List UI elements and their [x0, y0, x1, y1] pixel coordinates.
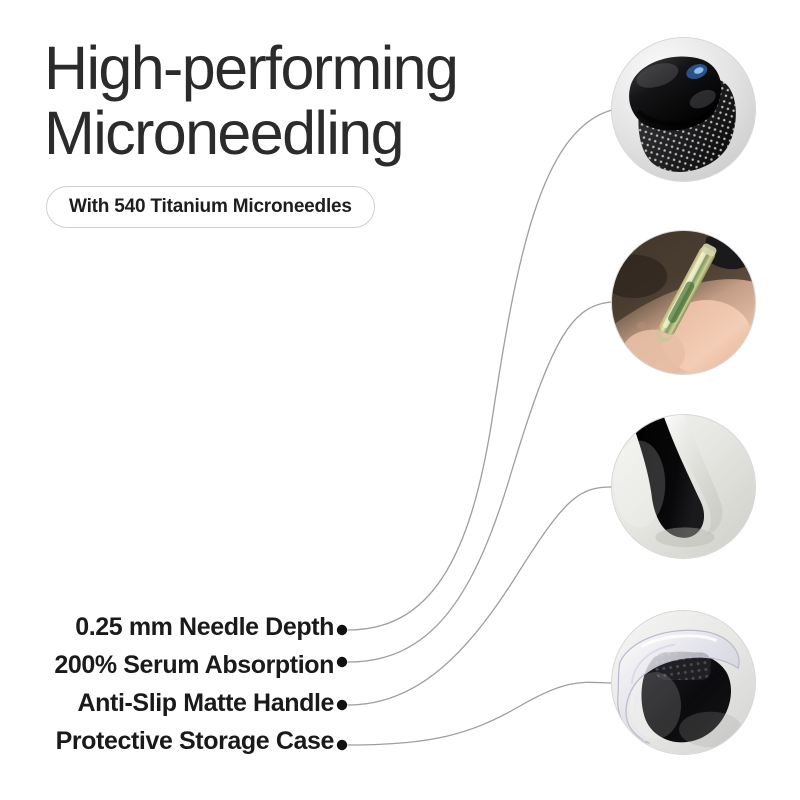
bullet-dot-1 — [337, 625, 347, 635]
bullet-dot-2 — [337, 657, 347, 667]
bullet-dot-3 — [337, 700, 347, 710]
list-item: Protective Storage Case — [56, 722, 338, 760]
connector-line-4 — [348, 682, 612, 745]
badge-label: With 540 Titanium Microneedles — [69, 196, 352, 218]
feature-label-3: Anti-Slip Matte Handle — [78, 689, 334, 718]
feature-label-2: 200% Serum Absorption — [54, 651, 334, 680]
page-title: High-performing Microneedling — [44, 36, 584, 165]
feature-label-4: Protective Storage Case — [56, 727, 334, 756]
connector-line-2 — [348, 302, 612, 662]
product-photo-storage-case — [611, 610, 756, 755]
product-photo-matte-handle — [611, 414, 756, 559]
list-item: Anti-Slip Matte Handle — [78, 684, 338, 722]
status-badge: With 540 Titanium Microneedles — [46, 186, 375, 228]
bullet-dot-4 — [337, 740, 347, 750]
product-photo-roller-drum — [611, 37, 756, 182]
connector-line-3 — [348, 487, 612, 705]
feature-label-1: 0.25 mm Needle Depth — [75, 613, 334, 642]
list-item: 200% Serum Absorption — [54, 646, 338, 684]
connector-line-1 — [348, 110, 612, 630]
list-item: 0.25 mm Needle Depth — [75, 608, 338, 646]
product-photo-serum-ampoule — [611, 230, 756, 375]
feature-list: 0.25 mm Needle Depth 200% Serum Absorpti… — [0, 608, 338, 760]
product-feature-poster: High-performing Microneedling With 540 T… — [0, 0, 800, 800]
